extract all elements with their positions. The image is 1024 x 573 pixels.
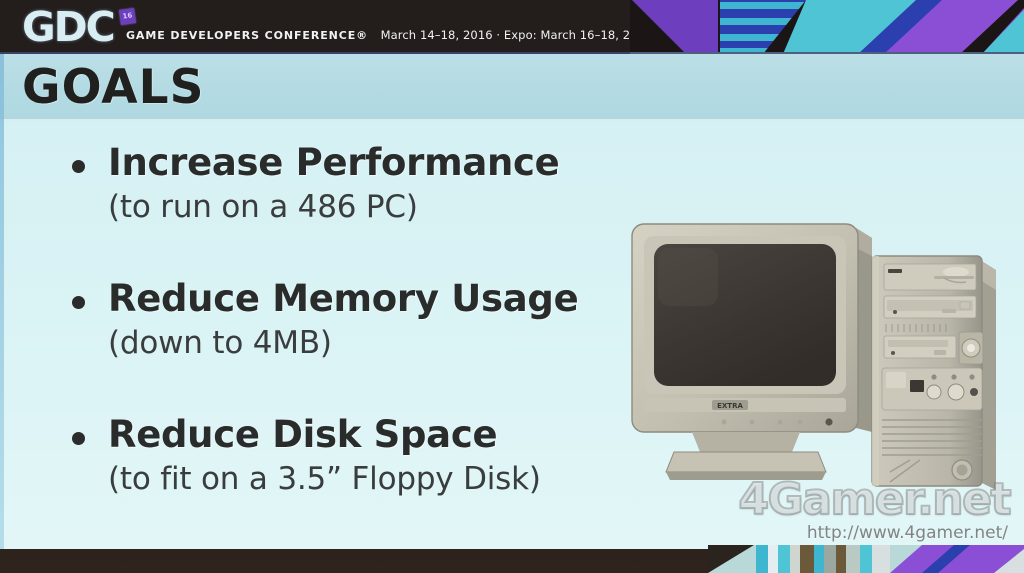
bullet-dot-icon — [72, 160, 85, 173]
retro-pc-illustration: EXTRA — [604, 214, 1012, 504]
screenshot-root: GDC 16 GAME DEVELOPERS CONFERENCE® March… — [0, 0, 1024, 573]
gdc-logo: GDC 16 — [22, 4, 134, 50]
gdc-year-badge-label: 16 — [119, 8, 136, 25]
presentation-slide: GDC 16 GAME DEVELOPERS CONFERENCE® March… — [0, 0, 1024, 549]
gdc-year-badge-icon: 16 — [119, 8, 136, 25]
gdc-dates: March 14–18, 2016 · Expo: March 16–18, 2… — [381, 28, 653, 42]
bottom-stripes-svg — [708, 545, 1024, 573]
bullet-heading: Reduce Memory Usage — [108, 276, 626, 322]
bullet-dot-icon — [72, 296, 85, 309]
list-item: Reduce Disk Space (to fit on a 3.5” Flop… — [66, 412, 626, 500]
geometric-pattern-svg — [630, 0, 1024, 54]
list-item: Reduce Memory Usage (down to 4MB) — [66, 276, 626, 364]
gdc-wordmark: GDC — [22, 4, 134, 50]
bullet-heading: Increase Performance — [108, 140, 626, 186]
goals-bullet-list: Increase Performance (to run on a 486 PC… — [66, 140, 626, 548]
bullet-detail: (to fit on a 3.5” Floppy Disk) — [108, 458, 626, 500]
bullet-detail: (down to 4MB) — [108, 322, 626, 364]
gdc-header-bar: GDC 16 GAME DEVELOPERS CONFERENCE® March… — [0, 0, 1024, 54]
gdc-geometric-artwork — [630, 0, 1024, 54]
retro-pc-photo: EXTRA — [604, 214, 1012, 504]
page-title: GOALS — [22, 58, 204, 118]
gdc-conference-name: GAME DEVELOPERS CONFERENCE® — [126, 29, 368, 42]
slide-left-edge — [0, 54, 4, 549]
bottom-color-stripes — [708, 545, 1024, 573]
bullet-dot-icon — [72, 432, 85, 445]
list-item: Increase Performance (to run on a 486 PC… — [66, 140, 626, 228]
svg-text:EXTRA: EXTRA — [717, 402, 743, 410]
bullet-detail: (to run on a 486 PC) — [108, 186, 626, 228]
bullet-heading: Reduce Disk Space — [108, 412, 626, 458]
